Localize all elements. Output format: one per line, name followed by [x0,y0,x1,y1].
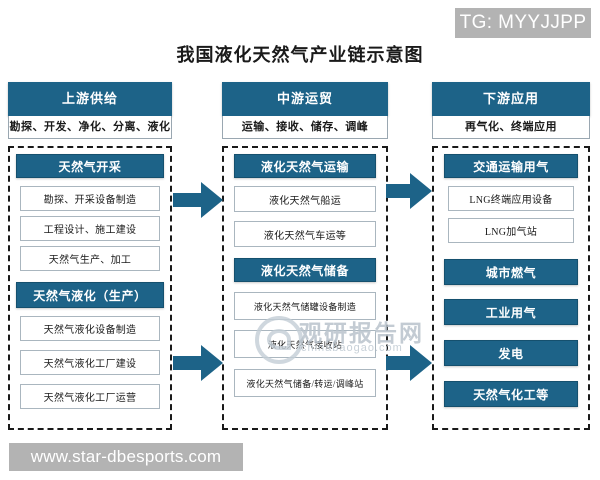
item-midstream-1-0: 液化天然气储罐设备制造 [234,292,376,320]
arrow-midstream-to-downstream-top [386,168,434,214]
arrow-upstream-to-midstream-top [173,177,225,223]
group-head-power-generation: 发电 [444,340,578,366]
group-head-city-gas: 城市燃气 [444,259,578,285]
arrow-upstream-to-midstream-bottom [173,340,225,386]
item-midstream-1-1: 液化天然气接收站 [234,330,376,358]
diagram-canvas: TG: MYYJJPP 我国液化天然气产业链示意图 上游供给 勘探、开发、净化、… [0,0,600,480]
column-sub-downstream: 再气化、终端应用 [432,116,590,139]
downstream-inner: 交通运输用气 LNG终端应用设备 LNG加气站 城市燃气 工业用气 发电 天然气… [440,154,582,422]
tg-badge: TG: MYYJJPP [455,8,591,38]
item-upstream-0-2: 天然气生产、加工 [20,246,160,271]
item-upstream-0-0: 勘探、开采设备制造 [20,186,160,211]
column-head-downstream: 下游应用 [432,82,590,116]
dashed-box-midstream: 液化天然气运输 液化天然气船运 液化天然气车运等 液化天然气储备 液化天然气储罐… [222,146,388,430]
page-title: 我国液化天然气产业链示意图 [0,41,600,67]
item-midstream-1-2: 液化天然气储备/转运/调峰站 [234,369,376,397]
group-head-lng-storage: 液化天然气储备 [234,258,376,282]
column-sub-upstream: 勘探、开发、净化、分离、液化 [8,116,172,139]
midstream-inner: 液化天然气运输 液化天然气船运 液化天然气车运等 液化天然气储备 液化天然气储罐… [230,154,380,422]
item-upstream-1-0: 天然气液化设备制造 [20,316,160,341]
item-upstream-1-1: 天然气液化工厂建设 [20,350,160,375]
upstream-inner: 天然气开采 勘探、开采设备制造 工程设计、施工建设 天然气生产、加工 天然气液化… [16,154,164,422]
item-midstream-0-0: 液化天然气船运 [234,186,376,212]
column-upstream-header: 上游供给 勘探、开发、净化、分离、液化 [8,82,172,139]
item-downstream-0-1: LNG加气站 [448,218,574,243]
item-midstream-0-1: 液化天然气车运等 [234,221,376,247]
item-downstream-0-0: LNG终端应用设备 [448,186,574,211]
column-downstream-header: 下游应用 再气化、终端应用 [432,82,590,139]
group-head-natural-gas-extraction: 天然气开采 [16,154,164,178]
group-head-industrial-gas: 工业用气 [444,299,578,325]
column-head-upstream: 上游供给 [8,82,172,116]
group-head-gas-chemical: 天然气化工等 [444,381,578,407]
item-upstream-0-1: 工程设计、施工建设 [20,216,160,241]
arrow-midstream-to-downstream-bottom [386,340,434,386]
column-midstream-header: 中游运贸 运输、接收、储存、调峰 [222,82,388,139]
dashed-box-upstream: 天然气开采 勘探、开采设备制造 工程设计、施工建设 天然气生产、加工 天然气液化… [8,146,172,430]
group-head-natural-gas-liquefaction: 天然气液化（生产） [16,282,164,308]
dashed-box-downstream: 交通运输用气 LNG终端应用设备 LNG加气站 城市燃气 工业用气 发电 天然气… [432,146,590,430]
item-upstream-1-2: 天然气液化工厂运营 [20,384,160,409]
footer-url: www.star-dbesports.com [9,443,243,471]
column-head-midstream: 中游运贸 [222,82,388,116]
group-head-lng-transport: 液化天然气运输 [234,154,376,178]
column-sub-midstream: 运输、接收、储存、调峰 [222,116,388,139]
group-head-transportation-gas: 交通运输用气 [444,154,578,178]
